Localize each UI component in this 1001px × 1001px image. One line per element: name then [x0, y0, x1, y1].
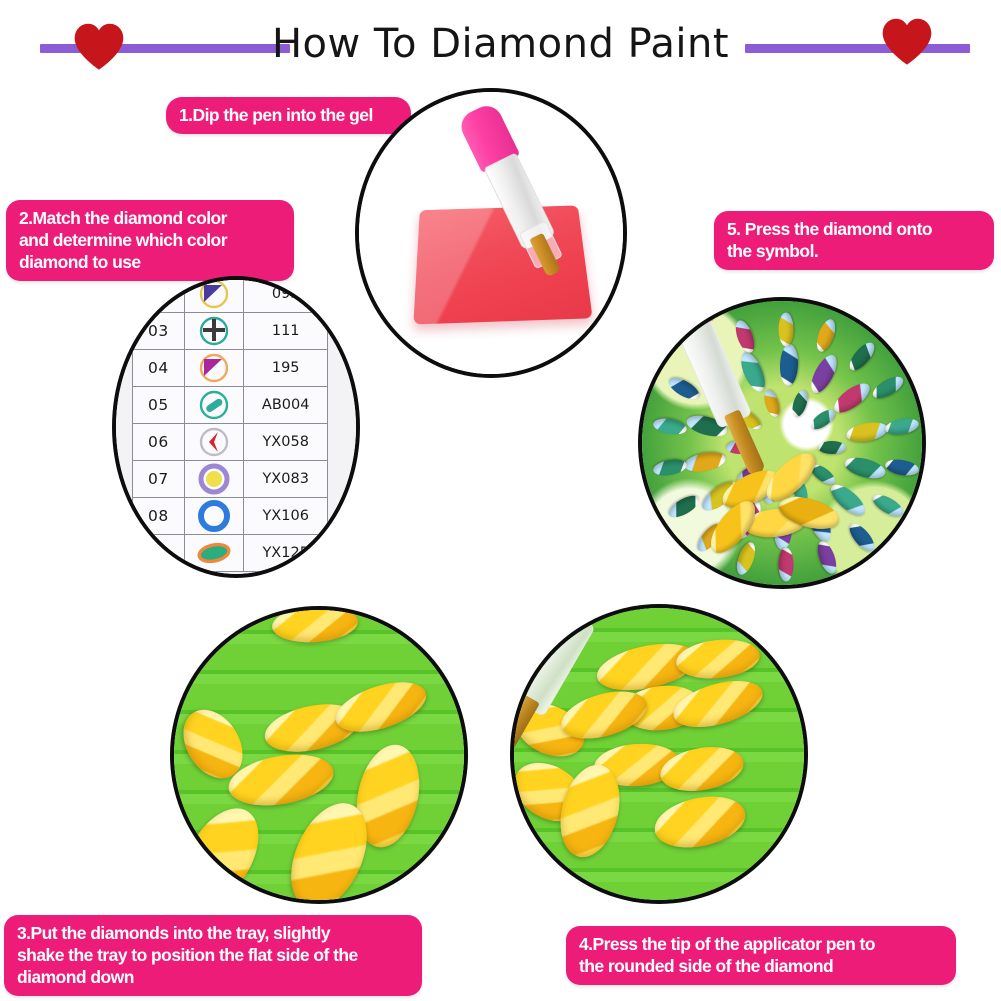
legend-cell-symbol: [184, 461, 244, 498]
legend-cell-symbol: [184, 535, 244, 572]
legend-cell-no: 08: [133, 498, 185, 535]
step-4-label: 4.Press the tip of the applicator pen to…: [566, 926, 956, 985]
legend-cell-symbol: [184, 313, 244, 350]
legend-cell-code: 093: [244, 276, 328, 313]
rhinestone: [790, 388, 811, 419]
rhinestone: [683, 450, 728, 476]
legend-cell-no: 09: [133, 535, 185, 572]
yellow-diamond: [170, 795, 274, 904]
legend-row: 02093: [133, 276, 328, 313]
legend-row: 03111: [133, 313, 328, 350]
yellow-diamond: [668, 672, 767, 736]
rhinestone: [814, 539, 840, 576]
rhinestone: [732, 318, 758, 355]
rhinestone: [845, 338, 878, 374]
legend-cell-code: 111: [244, 313, 328, 350]
rhinestone: [870, 373, 907, 403]
legend-cell-code: 195: [244, 350, 328, 387]
yellow-diamond: [674, 636, 762, 683]
legend-cell-code: AB004: [244, 387, 328, 424]
step-5-photo-pressing-diamond-onto-symbol: [638, 297, 926, 589]
step-3-label: 3.Put the diamonds into the tray, slight…: [4, 915, 422, 996]
step-2-label: 2.Match the diamond color and determine …: [6, 200, 294, 281]
legend-cell-symbol: [184, 276, 244, 313]
legend-cell-symbol: [184, 350, 244, 387]
legend-cell-symbol: [184, 424, 244, 461]
legend-row: 07YX083: [133, 461, 328, 498]
rhinestone: [733, 539, 759, 576]
legend-cell-no: 05: [133, 387, 185, 424]
rhinestone: [818, 441, 846, 454]
rhinestone: [845, 519, 878, 555]
legend-cell-code: YX106: [244, 498, 328, 535]
step-5-label: 5. Press the diamond onto the symbol.: [714, 211, 994, 270]
rhinestone: [652, 458, 688, 479]
page-title: How To Diamond Paint: [0, 18, 1001, 70]
rhinestone: [779, 344, 798, 387]
rhinestone: [806, 352, 841, 398]
rhinestone: [761, 388, 782, 419]
header: How To Diamond Paint: [0, 0, 1001, 80]
step-2-photo-symbol-legend-chart: 02802093031110419505AB00406YX05807YX0830…: [112, 276, 360, 578]
rhinestone: [813, 317, 839, 354]
legend-cell-code: YX083: [244, 461, 328, 498]
legend-row: 09YX125: [133, 535, 328, 572]
rhinestone: [843, 454, 888, 482]
yellow-diamond: [650, 789, 750, 855]
diamond-tray: [170, 606, 468, 904]
legend-cell-no: 07: [133, 461, 185, 498]
legend-cell-code: YX058: [244, 424, 328, 461]
legend-row: 04195: [133, 350, 328, 387]
rhinestone: [808, 406, 838, 433]
rhinestone: [778, 312, 793, 346]
legend-chart-sheet: 02802093031110419505AB00406YX05807YX0830…: [112, 276, 360, 578]
rhinestone: [884, 457, 920, 478]
legend-cell-code: YX125: [244, 535, 328, 572]
legend-cell-no: 02: [133, 276, 185, 313]
rhinestone: [884, 416, 920, 437]
yellow-diamond: [271, 606, 359, 645]
step-3-photo-diamonds-in-tray: [170, 606, 468, 904]
legend-cell-no: 04: [133, 350, 185, 387]
rhinestone: [844, 419, 889, 445]
legend-cell-no: 06: [133, 424, 185, 461]
legend-cell-no: 03: [133, 313, 185, 350]
rhinestone: [666, 491, 703, 521]
step-1-photo-pen-dipping-into-gel: [355, 88, 627, 378]
legend-row: 05AB004: [133, 387, 328, 424]
legend-cell-symbol: [184, 387, 244, 424]
legend-row: 06YX058: [133, 424, 328, 461]
legend-row: 08YX106: [133, 498, 328, 535]
step-4-photo-pen-picking-up-diamond: [510, 604, 808, 904]
rhinestone: [779, 548, 794, 582]
rhinestone: [830, 378, 874, 417]
legend-table: 02802093031110419505AB00406YX05807YX0830…: [132, 276, 328, 572]
infographic-page: How To Diamond Paint 1.Dip the pen into …: [0, 0, 1001, 1001]
rhinestone: [652, 417, 688, 438]
legend-cell-symbol: [184, 498, 244, 535]
rhinestone: [870, 491, 907, 521]
